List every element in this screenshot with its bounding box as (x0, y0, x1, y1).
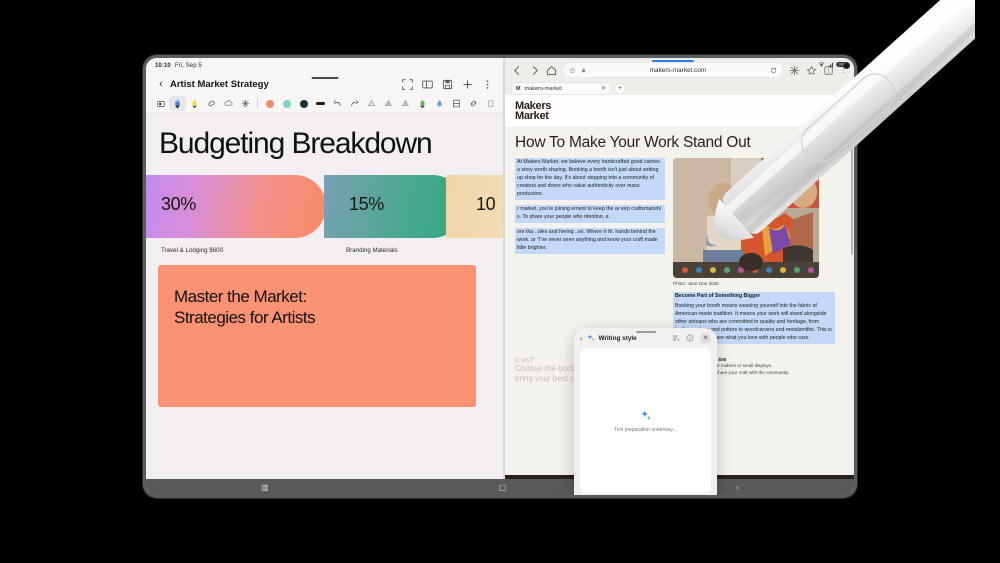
pen-tool[interactable] (169, 96, 186, 111)
back-chevron-icon[interactable]: ‹ (154, 78, 168, 90)
notes-app-pane: 10:10 Fri, Sep 5 ‹ Artist Market Strateg… (146, 58, 503, 479)
tab-label: makers-market (525, 86, 597, 92)
panel-actions: ✕ (672, 333, 711, 344)
tablet-device: 10:10 Fri, Sep 5 ‹ Artist Market Strateg… (143, 55, 857, 498)
slide-canvas[interactable]: Budgeting Breakdown 30% 15% 10 Travel & … (146, 113, 503, 479)
status-date: Fri, Sep 5 (175, 63, 202, 69)
list-options-icon[interactable] (672, 334, 680, 342)
panel-body: Text preparation underway... (580, 348, 711, 493)
close-tab-icon[interactable]: ✕ (601, 85, 606, 92)
browser-toolbar: makers-market.com 1 (505, 58, 854, 82)
status-time: 10:10 (155, 63, 171, 69)
android-nav-bar: ▥ ▢ ‹ (146, 479, 854, 495)
lasso-select-tool[interactable] (237, 96, 254, 111)
paragraph-2: r market, you're joining ement to keep t… (515, 205, 665, 223)
left-column: At Makers Market, we believe every handc… (515, 158, 665, 349)
lock-icon (581, 67, 586, 73)
sidebar-heading: Become Part of Something Bigger (673, 292, 835, 302)
address-bar[interactable]: makers-market.com (563, 63, 783, 77)
shape-tool-c[interactable] (397, 96, 414, 111)
paragraph-3: ore tha ..oles and hering ..es. Where rt… (515, 228, 665, 254)
fill-tool[interactable] (431, 96, 448, 111)
wifi-icon (818, 61, 825, 68)
chart-legend: Travel & Lodging $600 Branding Materials (146, 241, 503, 263)
highlighter-tool[interactable] (186, 96, 203, 111)
browser-tab[interactable]: M makers-market ✕ (512, 83, 610, 94)
info-icon[interactable] (686, 334, 694, 342)
hero-heading: How To Make Your Work Stand Out (505, 127, 854, 155)
panel-grabber[interactable] (636, 331, 656, 333)
color-swatch-coral[interactable] (261, 96, 278, 111)
color-swatch-navy[interactable] (295, 96, 312, 111)
url-text: makers-market.com (591, 67, 765, 74)
image-insert-tool[interactable] (448, 96, 465, 111)
content-columns: At Makers Market, we believe every handc… (505, 154, 854, 349)
svg-text:1: 1 (827, 68, 830, 74)
cloud-shape-tool[interactable] (220, 96, 237, 111)
site-header: Makers Market (505, 95, 854, 127)
window-grabber[interactable] (311, 77, 338, 79)
overflow-tool[interactable] (482, 96, 499, 111)
bookmark-star-icon[interactable] (806, 65, 817, 76)
article-photo (673, 158, 819, 278)
add-icon[interactable] (462, 79, 473, 90)
back-arrow-icon[interactable] (512, 65, 523, 76)
page-load-indicator (652, 60, 694, 62)
status-bar: 10:10 Fri, Sep 5 (146, 58, 503, 73)
photo-caption: Photo: Jane Doe 2025 (673, 281, 835, 286)
callout-text: Master the Market:Strategies for Artists (174, 287, 315, 328)
split-view-icon[interactable] (422, 79, 433, 90)
save-icon[interactable] (442, 79, 453, 90)
text-box-tool[interactable] (152, 96, 169, 111)
page-title: Artist Market Strategy (170, 79, 269, 90)
tablet-bezel: 10:10 Fri, Sep 5 ‹ Artist Market Strateg… (146, 58, 854, 495)
slide-title: Budgeting Breakdown (159, 127, 432, 161)
legend-item-0: Travel & Lodging $600 (161, 247, 223, 254)
tab-favicon: M (516, 86, 521, 92)
bar-value-2: 15% (349, 194, 384, 215)
brand-line-1: Makers (515, 101, 844, 111)
screenshot-stage: 10:10 Fri, Sep 5 ‹ Artist Market Strateg… (0, 0, 1000, 563)
site-logo: Makers Market (515, 101, 844, 122)
shape-tool-b[interactable] (380, 96, 397, 111)
signal-icon (828, 61, 834, 68)
tab-strip: M makers-market ✕ + (505, 82, 854, 95)
close-icon[interactable]: ✕ (700, 333, 711, 344)
right-column: Photo: Jane Doe 2025 Become Part of Some… (673, 158, 835, 349)
paragraph-1: At Makers Market, we believe every handc… (515, 158, 665, 200)
drawing-toolbar (146, 95, 503, 113)
focus-frame-icon[interactable] (402, 79, 413, 90)
undo-button[interactable] (329, 96, 346, 111)
shape-tool-a[interactable] (363, 96, 380, 111)
ai-sparkle-icon (639, 409, 652, 422)
bookmark-star-icon[interactable] (569, 67, 576, 74)
legend-item-1: Branding Materials (346, 247, 398, 254)
extensions-icon[interactable] (789, 65, 800, 76)
tablet-screen: 10:10 Fri, Sep 5 ‹ Artist Market Strateg… (146, 58, 854, 495)
panel-title: Writing style (599, 335, 637, 342)
ai-sparkle-icon (587, 334, 595, 342)
link-tool[interactable] (465, 96, 482, 111)
callout-card[interactable]: Master the Market:Strategies for Artists (158, 265, 476, 407)
bar-value-1: 30% (161, 194, 196, 215)
front-camera (843, 62, 850, 69)
browser-chrome: makers-market.com 1 M makers-market (505, 58, 854, 95)
home-circle-icon[interactable]: ▢ (499, 483, 507, 492)
pen-style-tool[interactable] (414, 96, 431, 111)
reload-icon[interactable] (770, 67, 777, 74)
forward-arrow-icon[interactable] (529, 65, 540, 76)
back-chevron-icon[interactable]: ‹ (580, 334, 583, 343)
budget-bar-chart: 30% 15% 10 (146, 175, 503, 238)
redo-button[interactable] (346, 96, 363, 111)
page-scrollbar[interactable] (851, 135, 853, 255)
bar-value-3: 10 (476, 194, 495, 215)
home-icon[interactable] (546, 65, 557, 76)
brand-line-2: Market (515, 111, 844, 121)
notes-header-actions (402, 79, 495, 90)
color-swatch-mint[interactable] (278, 96, 295, 111)
back-icon[interactable]: ‹ (736, 483, 739, 492)
recents-icon[interactable]: ▥ (261, 483, 269, 492)
new-tab-icon[interactable]: + (615, 84, 625, 94)
notes-header: ‹ Artist Market Strategy (146, 73, 503, 95)
ai-status-text: Text preparation underway... (614, 427, 677, 433)
toolbar-divider (257, 99, 258, 108)
eraser-tool[interactable] (203, 96, 220, 111)
stroke-width-tool[interactable] (312, 96, 329, 111)
more-options-icon[interactable] (482, 79, 493, 90)
bar-segment-2 (324, 175, 464, 238)
writing-style-panel[interactable]: ‹ Writing style ✕ (574, 328, 717, 495)
split-divider[interactable] (503, 58, 505, 479)
